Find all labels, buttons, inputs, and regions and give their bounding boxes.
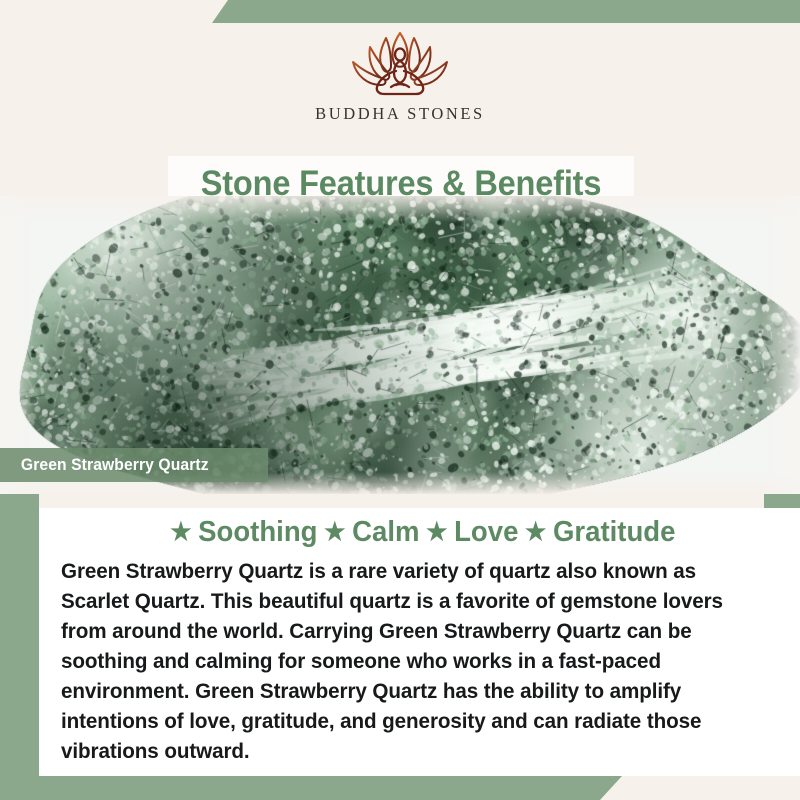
keyword-list: ★Soothing★Calm★Love★Gratitude (58, 510, 781, 554)
brand-wordmark: BUDDHA STONES (315, 104, 485, 124)
keyword-label-love: Love (454, 516, 518, 549)
brand-logo: BUDDHA STONES (0, 23, 800, 143)
stone-caption-label: Green Strawberry Quartz (0, 456, 209, 475)
decor-band-top (212, 0, 800, 23)
content-panel: ★Soothing★Calm★Love★Gratitude Green Stra… (39, 508, 800, 776)
header: BUDDHA STONES Stone Features & Benefits (0, 23, 800, 196)
decor-band-bottom (0, 776, 622, 800)
stone-caption-band: Green Strawberry Quartz (0, 448, 268, 482)
keyword-label-gratitude: Gratitude (553, 516, 675, 549)
lotus-meditation-icon (348, 27, 452, 103)
star-icon: ★ (518, 520, 553, 545)
stone-photo: Green Strawberry Quartz (0, 196, 800, 494)
infographic-card: BUDDHA STONES Stone Features & Benefits … (0, 0, 800, 800)
star-icon: ★ (164, 520, 199, 545)
body-paragraph: Green Strawberry Quartz is a rare variet… (61, 556, 749, 766)
star-icon: ★ (419, 520, 454, 545)
keyword-label-calm: Calm (352, 516, 419, 549)
keyword-label-soothing: Soothing (198, 516, 317, 549)
star-icon: ★ (318, 520, 353, 545)
